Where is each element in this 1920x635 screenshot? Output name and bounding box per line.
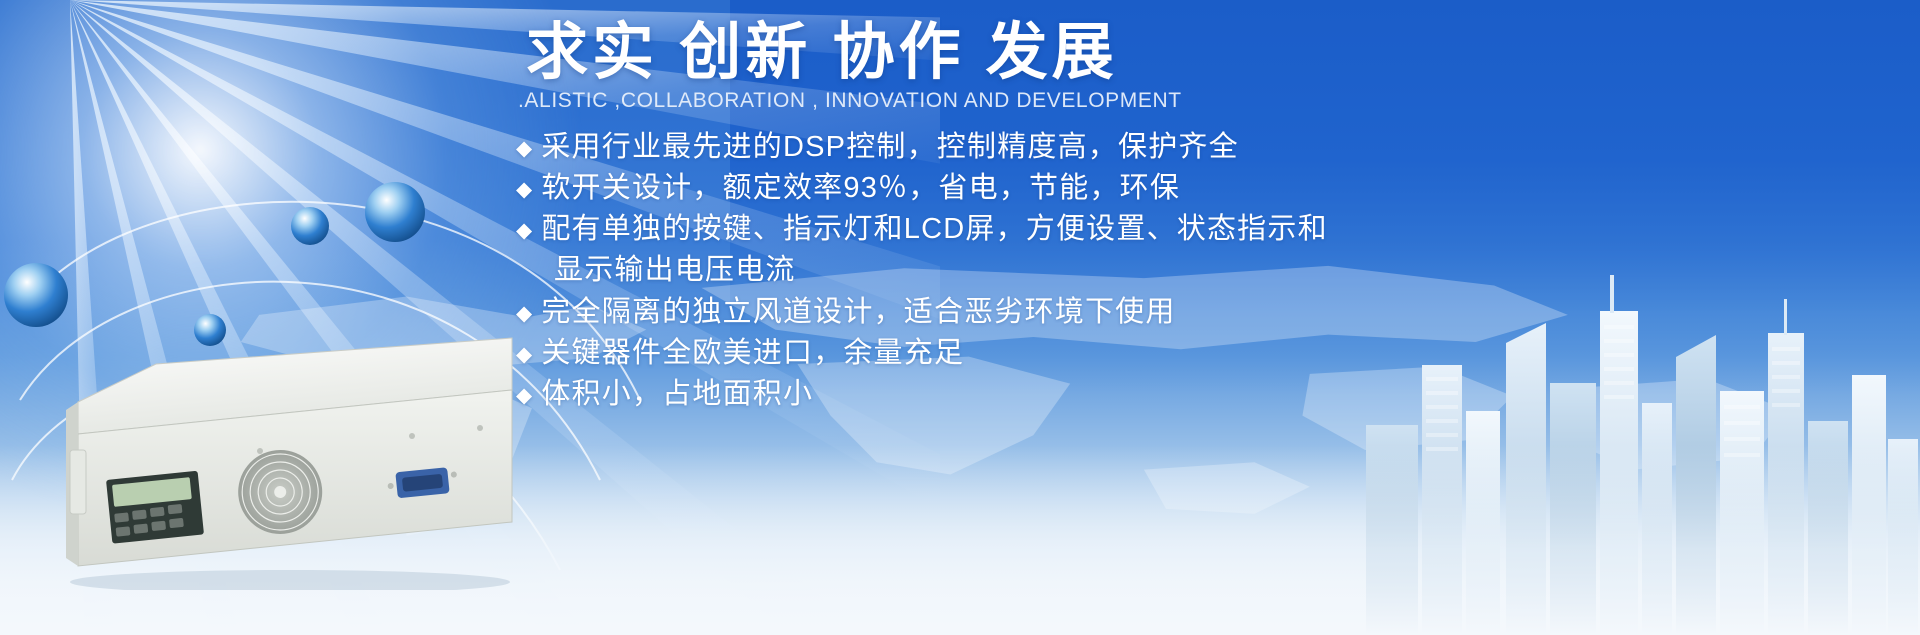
subtitle: .ALISTIC ,COLLABORATION , INNOVATION AND… bbox=[518, 89, 1696, 113]
rack-mount-power-supply bbox=[60, 330, 530, 590]
feature-list: ◆ 采用行业最先进的DSP控制，控制精度高，保护齐全 ◆ 软开关设计，额定效率9… bbox=[516, 127, 1696, 413]
list-item-label: 采用行业最先进的DSP控制，控制精度高，保护齐全 bbox=[541, 127, 1238, 167]
diamond-bullet-icon: ◆ bbox=[516, 303, 533, 324]
list-item-label: 显示输出电压电流 bbox=[554, 250, 796, 290]
list-item: ◆ 体积小，占地面积小 bbox=[516, 374, 1696, 414]
list-item-label: 完全隔离的独立风道设计，适合恶劣环境下使用 bbox=[541, 292, 1175, 332]
list-item-label: 关键器件全欧美进口，余量充足 bbox=[541, 333, 964, 373]
diamond-bullet-icon: ◆ bbox=[516, 138, 533, 159]
list-item-label: 体积小，占地面积小 bbox=[541, 374, 813, 414]
list-item-label: 配有单独的按键、指示灯和LCD屏，方便设置、状态指示和 bbox=[541, 209, 1327, 249]
diamond-bullet-icon: ◆ bbox=[516, 385, 533, 406]
page-title: 求实 创新 协作 发展 bbox=[526, 18, 1696, 87]
list-item: ◆ 完全隔离的独立风道设计，适合恶劣环境下使用 bbox=[516, 292, 1696, 332]
diamond-bullet-icon: ◆ bbox=[516, 220, 533, 241]
list-item: ◆ 采用行业最先进的DSP控制，控制精度高，保护齐全 bbox=[516, 127, 1696, 167]
banner-copy: 求实 创新 协作 发展 .ALISTIC ,COLLABORATION , IN… bbox=[516, 18, 1696, 415]
list-item-label: 软开关设计，额定效率93％，省电，节能，环保 bbox=[541, 168, 1180, 208]
promotional-banner: 求实 创新 协作 发展 .ALISTIC ,COLLABORATION , IN… bbox=[0, 0, 1920, 635]
list-item: ◆ 软开关设计，额定效率93％，省电，节能，环保 bbox=[516, 168, 1696, 208]
list-item-continuation: 显示输出电压电流 bbox=[554, 250, 1696, 290]
diamond-bullet-icon: ◆ bbox=[516, 344, 533, 365]
diamond-bullet-icon: ◆ bbox=[516, 179, 533, 200]
list-item: ◆ 配有单独的按键、指示灯和LCD屏，方便设置、状态指示和 bbox=[516, 209, 1696, 249]
list-item: ◆ 关键器件全欧美进口，余量充足 bbox=[516, 333, 1696, 373]
